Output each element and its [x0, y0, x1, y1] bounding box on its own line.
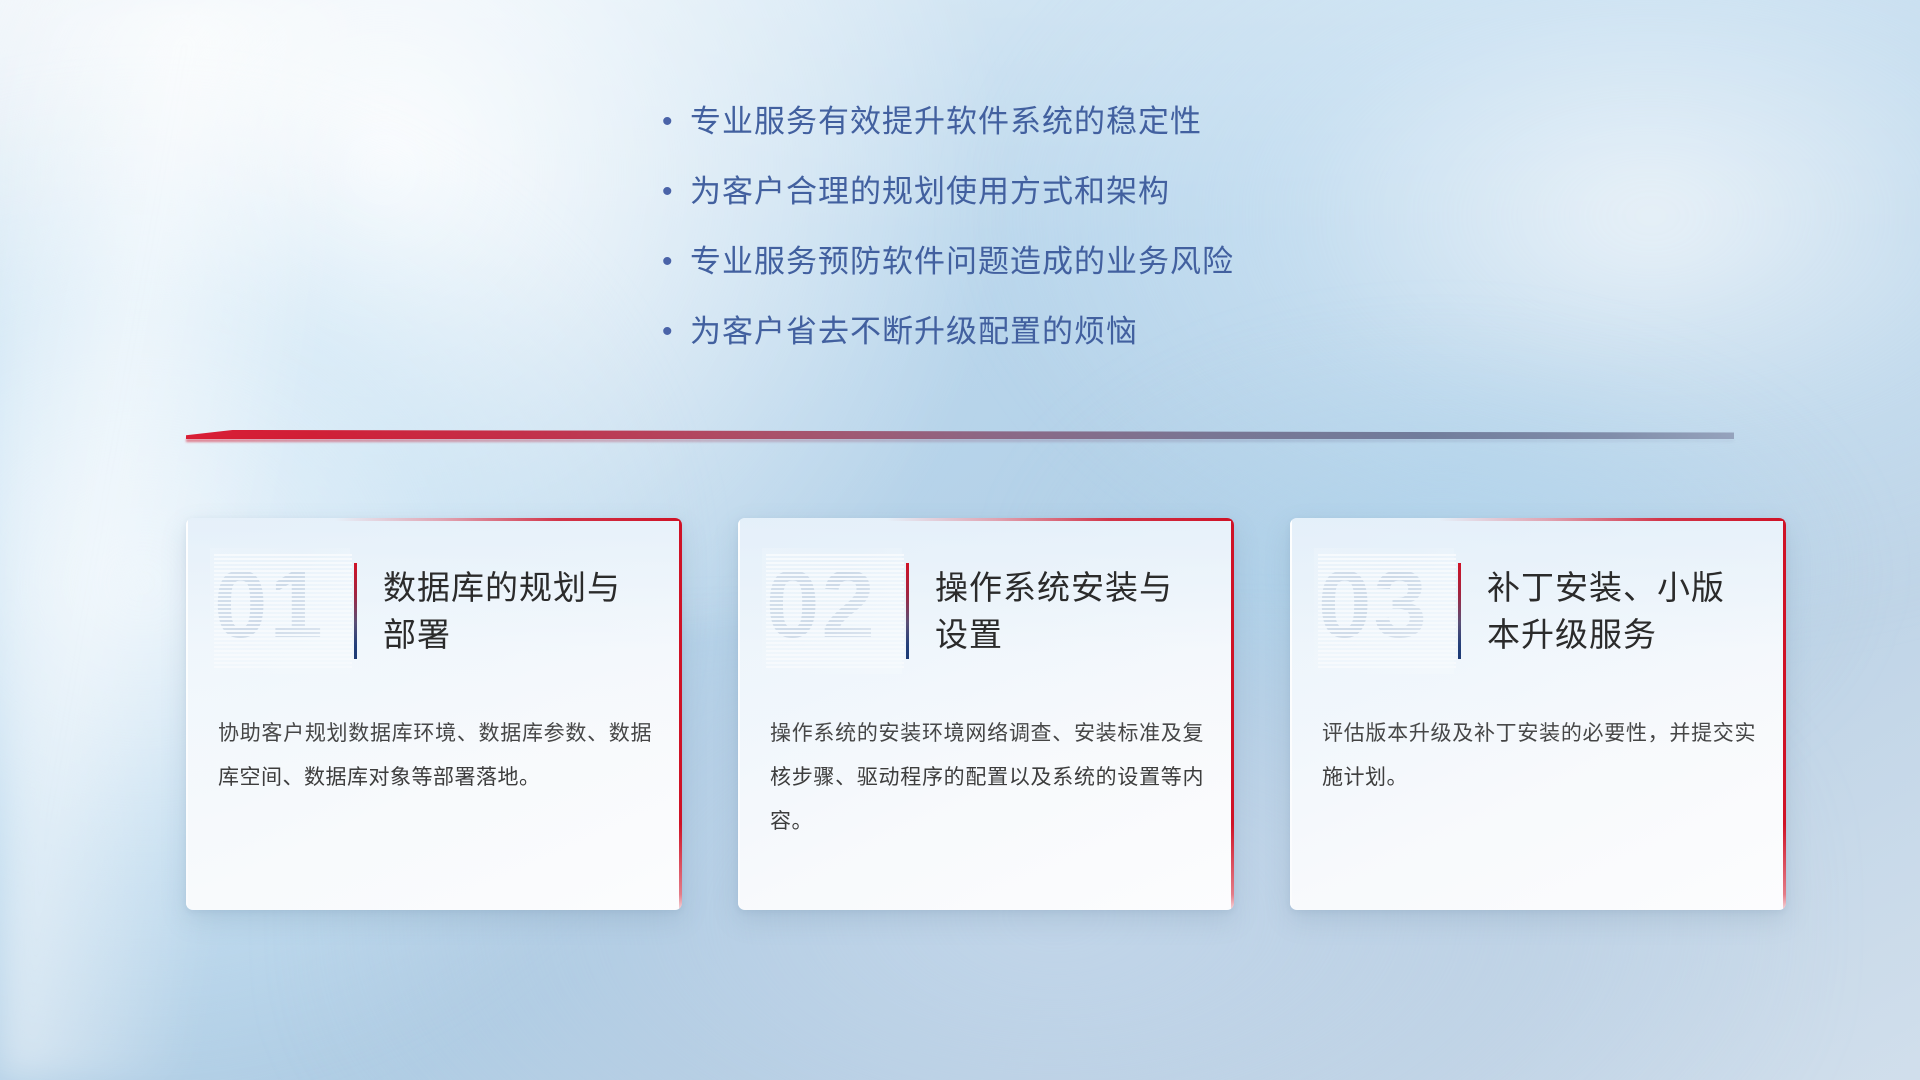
card-title-divider-rule — [906, 563, 909, 659]
service-card-01[interactable]: 01 数据库的规划与部署 协助客户规划数据库环境、数据库参数、数据库空间、数据库… — [186, 518, 682, 910]
card-number-watermark: 03 — [1318, 552, 1450, 670]
card-title: 操作系统安装与设置 — [935, 564, 1195, 658]
list-item: • 专业服务预防软件问题造成的业务风险 — [656, 240, 1476, 284]
bullet-text: 专业服务有效提升软件系统的稳定性 — [690, 100, 1202, 144]
card-number-watermark: 02 — [766, 552, 898, 670]
list-item: • 为客户合理的规划使用方式和架构 — [656, 170, 1476, 214]
card-title: 数据库的规划与部署 — [383, 564, 643, 658]
card-title: 补丁安装、小版本升级服务 — [1487, 564, 1747, 658]
list-item: • 专业服务有效提升软件系统的稳定性 — [656, 100, 1476, 144]
bullet-text: 为客户合理的规划使用方式和架构 — [690, 170, 1170, 214]
benefits-bullet-list: • 专业服务有效提升软件系统的稳定性 • 为客户合理的规划使用方式和架构 • 专… — [656, 100, 1476, 380]
service-card-03[interactable]: 03 补丁安装、小版本升级服务 评估版本升级及补丁安装的必要性，并提交实施计划。 — [1290, 518, 1786, 910]
card-number-text: 03 — [1318, 546, 1429, 664]
bullet-point-icon: • — [656, 310, 690, 354]
card-number-watermark: 01 — [214, 552, 346, 670]
card-description: 评估版本升级及补丁安装的必要性，并提交实施计划。 — [1322, 712, 1756, 800]
bullet-point-icon: • — [656, 100, 690, 144]
card-description: 操作系统的安装环境网络调查、安装标准及复核步骤、驱动程序的配置以及系统的设置等内… — [770, 712, 1204, 844]
card-header: 02 操作系统安装与设置 — [738, 518, 1234, 704]
card-body: 协助客户规划数据库环境、数据库参数、数据库空间、数据库对象等部署落地。 — [186, 712, 682, 800]
card-header: 01 数据库的规划与部署 — [186, 518, 682, 704]
card-header: 03 补丁安装、小版本升级服务 — [1290, 518, 1786, 704]
card-number-text: 01 — [214, 546, 325, 664]
bullet-text: 专业服务预防软件问题造成的业务风险 — [690, 240, 1234, 284]
card-title-divider-rule — [354, 563, 357, 659]
card-body: 评估版本升级及补丁安装的必要性，并提交实施计划。 — [1290, 712, 1786, 800]
bullet-text: 为客户省去不断升级配置的烦恼 — [690, 310, 1138, 354]
list-item: • 为客户省去不断升级配置的烦恼 — [656, 310, 1476, 354]
section-divider — [186, 424, 1734, 446]
divider-gradient-bar — [186, 430, 1734, 439]
card-title-divider-rule — [1458, 563, 1461, 659]
bullet-point-icon: • — [656, 170, 690, 214]
bullet-point-icon: • — [656, 240, 690, 284]
card-description: 协助客户规划数据库环境、数据库参数、数据库空间、数据库对象等部署落地。 — [218, 712, 652, 800]
service-card-02[interactable]: 02 操作系统安装与设置 操作系统的安装环境网络调查、安装标准及复核步骤、驱动程… — [738, 518, 1234, 910]
card-body: 操作系统的安装环境网络调查、安装标准及复核步骤、驱动程序的配置以及系统的设置等内… — [738, 712, 1234, 844]
service-cards-row: 01 数据库的规划与部署 协助客户规划数据库环境、数据库参数、数据库空间、数据库… — [186, 518, 1786, 938]
divider-hairline — [186, 439, 1734, 442]
card-number-text: 02 — [766, 546, 877, 664]
